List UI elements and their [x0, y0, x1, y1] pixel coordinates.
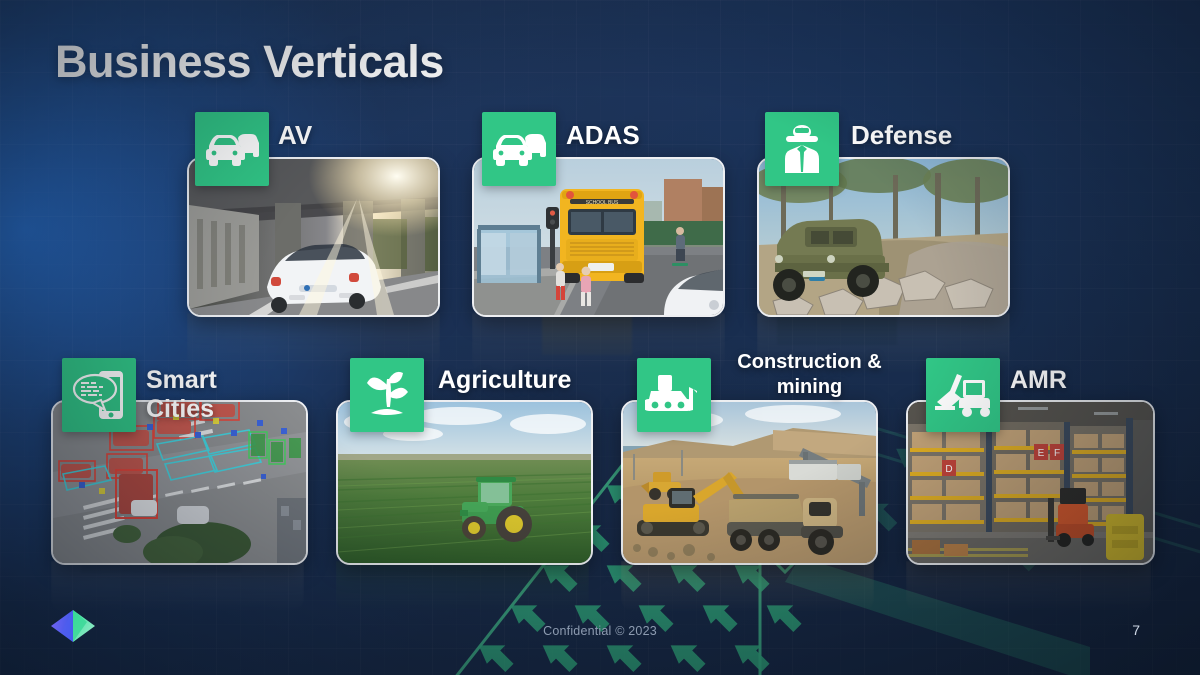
confidential-notice: Confidential © 2023 [0, 624, 1200, 638]
slide-business-verticals: Business Verticals [0, 0, 1200, 675]
background-vignette [0, 0, 1200, 675]
page-number: 7 [1132, 622, 1140, 638]
